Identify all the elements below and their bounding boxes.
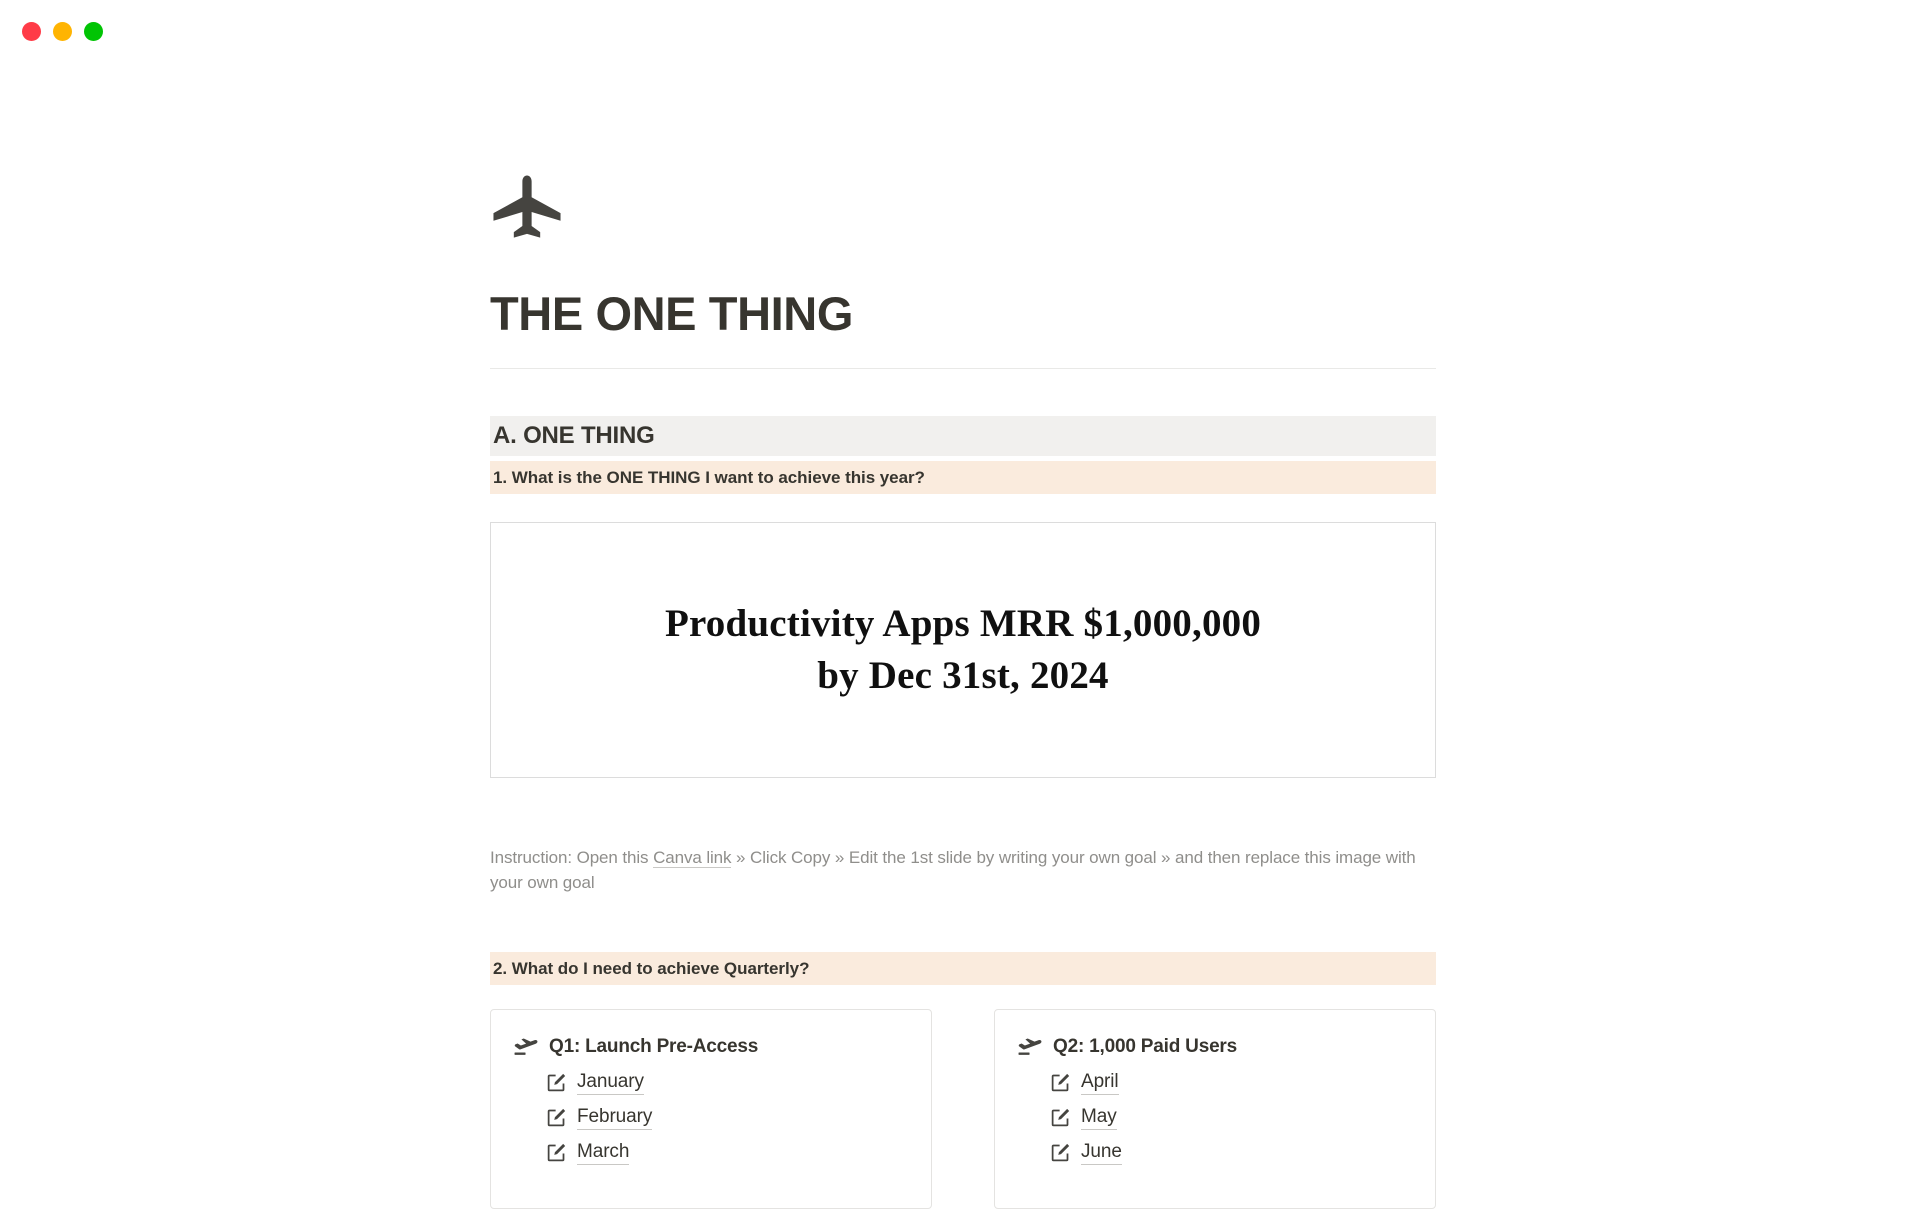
title-divider bbox=[490, 368, 1436, 369]
canva-link[interactable]: Canva link bbox=[653, 848, 731, 868]
goal-image-text: Productivity Apps MRR $1,000,000 by Dec … bbox=[665, 598, 1261, 702]
edit-square-icon bbox=[1050, 1142, 1071, 1163]
question-2-heading: 2. What do I need to achieve Quarterly? bbox=[490, 952, 1436, 985]
section-heading-a-label: A. ONE THING bbox=[493, 422, 655, 450]
quarter-card-q2[interactable]: Q2: 1,000 Paid Users April bbox=[994, 1009, 1436, 1209]
close-button[interactable] bbox=[22, 22, 41, 41]
goal-line-1: Productivity Apps MRR $1,000,000 bbox=[665, 598, 1261, 650]
month-row[interactable]: February bbox=[491, 1100, 931, 1135]
month-row[interactable]: March bbox=[491, 1135, 931, 1170]
quarter-card-q2-title-row: Q2: 1,000 Paid Users bbox=[995, 1036, 1435, 1058]
month-row[interactable]: January bbox=[491, 1065, 931, 1100]
goal-line-2: by Dec 31st, 2024 bbox=[665, 650, 1261, 702]
edit-square-icon bbox=[1050, 1072, 1071, 1093]
quarter-cards: Q1: Launch Pre-Access January bbox=[490, 1009, 1436, 1209]
month-link-april[interactable]: April bbox=[1081, 1070, 1119, 1095]
section-heading-a: A. ONE THING bbox=[490, 416, 1436, 456]
minimize-button[interactable] bbox=[53, 22, 72, 41]
question-2-label: 2. What do I need to achieve Quarterly? bbox=[493, 959, 809, 979]
month-row[interactable]: June bbox=[995, 1135, 1435, 1170]
page-title: THE ONE THING bbox=[490, 288, 853, 340]
airplane-departure-icon bbox=[1017, 1036, 1043, 1058]
edit-square-icon bbox=[546, 1072, 567, 1093]
edit-square-icon bbox=[1050, 1107, 1071, 1128]
quarter-card-q1-title-row: Q1: Launch Pre-Access bbox=[491, 1036, 931, 1058]
month-link-march[interactable]: March bbox=[577, 1140, 629, 1165]
quarter-card-q1-title: Q1: Launch Pre-Access bbox=[549, 1036, 758, 1058]
airplane-departure-icon bbox=[513, 1036, 539, 1058]
month-row[interactable]: April bbox=[995, 1065, 1435, 1100]
month-link-may[interactable]: May bbox=[1081, 1105, 1117, 1130]
quarter-card-q2-title: Q2: 1,000 Paid Users bbox=[1053, 1036, 1237, 1058]
month-link-january[interactable]: January bbox=[577, 1070, 644, 1095]
airplane-icon[interactable] bbox=[490, 172, 574, 256]
edit-square-icon bbox=[546, 1142, 567, 1163]
quarter-card-q1[interactable]: Q1: Launch Pre-Access January bbox=[490, 1009, 932, 1209]
question-1-label: 1. What is the ONE THING I want to achie… bbox=[493, 468, 925, 488]
question-1-heading: 1. What is the ONE THING I want to achie… bbox=[490, 461, 1436, 494]
month-link-june[interactable]: June bbox=[1081, 1140, 1122, 1165]
month-link-february[interactable]: February bbox=[577, 1105, 652, 1130]
maximize-button[interactable] bbox=[84, 22, 103, 41]
edit-square-icon bbox=[546, 1107, 567, 1128]
window-controls bbox=[22, 22, 103, 41]
goal-image-block[interactable]: Productivity Apps MRR $1,000,000 by Dec … bbox=[490, 522, 1436, 778]
month-row[interactable]: May bbox=[995, 1100, 1435, 1135]
page-content: THE ONE THING A. ONE THING 1. What is th… bbox=[490, 0, 1436, 1200]
instruction-prefix: Instruction: Open this bbox=[490, 848, 653, 867]
instruction-caption: Instruction: Open this Canva link » Clic… bbox=[490, 846, 1438, 895]
